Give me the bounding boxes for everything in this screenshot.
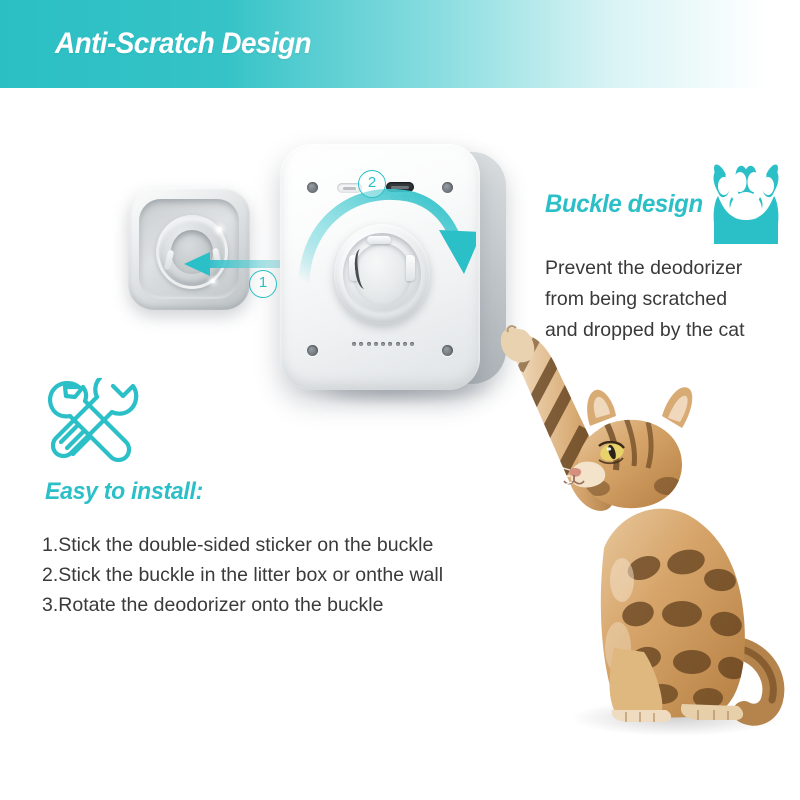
buckle-body-line: Prevent the deodorizer bbox=[545, 253, 800, 284]
vent-hole bbox=[388, 342, 392, 346]
install-step: 2.Stick the buckle in the litter box or … bbox=[42, 560, 512, 590]
highlight-spark bbox=[217, 227, 222, 232]
install-step: 3.Rotate the deodorizer onto the buckle bbox=[42, 590, 512, 620]
rotate-arrow-icon bbox=[296, 178, 476, 308]
highlight-spark bbox=[211, 279, 215, 283]
vent-hole bbox=[403, 342, 407, 346]
vent-hole bbox=[367, 342, 371, 346]
step-marker-1: 1 bbox=[249, 270, 277, 298]
header-banner: Anti-Scratch Design bbox=[0, 0, 800, 88]
vent-hole bbox=[381, 342, 385, 346]
buckle-body-line: from being scratched bbox=[545, 284, 800, 315]
vent-hole bbox=[396, 342, 400, 346]
infographic-page: Anti-Scratch Design bbox=[0, 0, 800, 800]
vent-holes bbox=[352, 341, 414, 346]
screw-hole bbox=[307, 345, 318, 356]
install-steps-list: 1.Stick the double-sided sticker on the … bbox=[42, 530, 512, 620]
step-marker-2: 2 bbox=[358, 170, 386, 198]
cat-paw-icon bbox=[710, 162, 782, 244]
install-step: 1.Stick the double-sided sticker on the … bbox=[42, 530, 512, 560]
tools-icon bbox=[45, 378, 145, 470]
cat-photo bbox=[486, 318, 800, 746]
page-title: Anti-Scratch Design bbox=[55, 27, 311, 61]
vent-hole bbox=[374, 342, 378, 346]
buckle-design-heading: Buckle design bbox=[545, 190, 703, 219]
vent-hole bbox=[352, 342, 356, 346]
install-heading: Easy to install: bbox=[45, 478, 203, 506]
screw-hole bbox=[442, 345, 453, 356]
vent-hole bbox=[359, 342, 363, 346]
vent-hole bbox=[410, 342, 414, 346]
